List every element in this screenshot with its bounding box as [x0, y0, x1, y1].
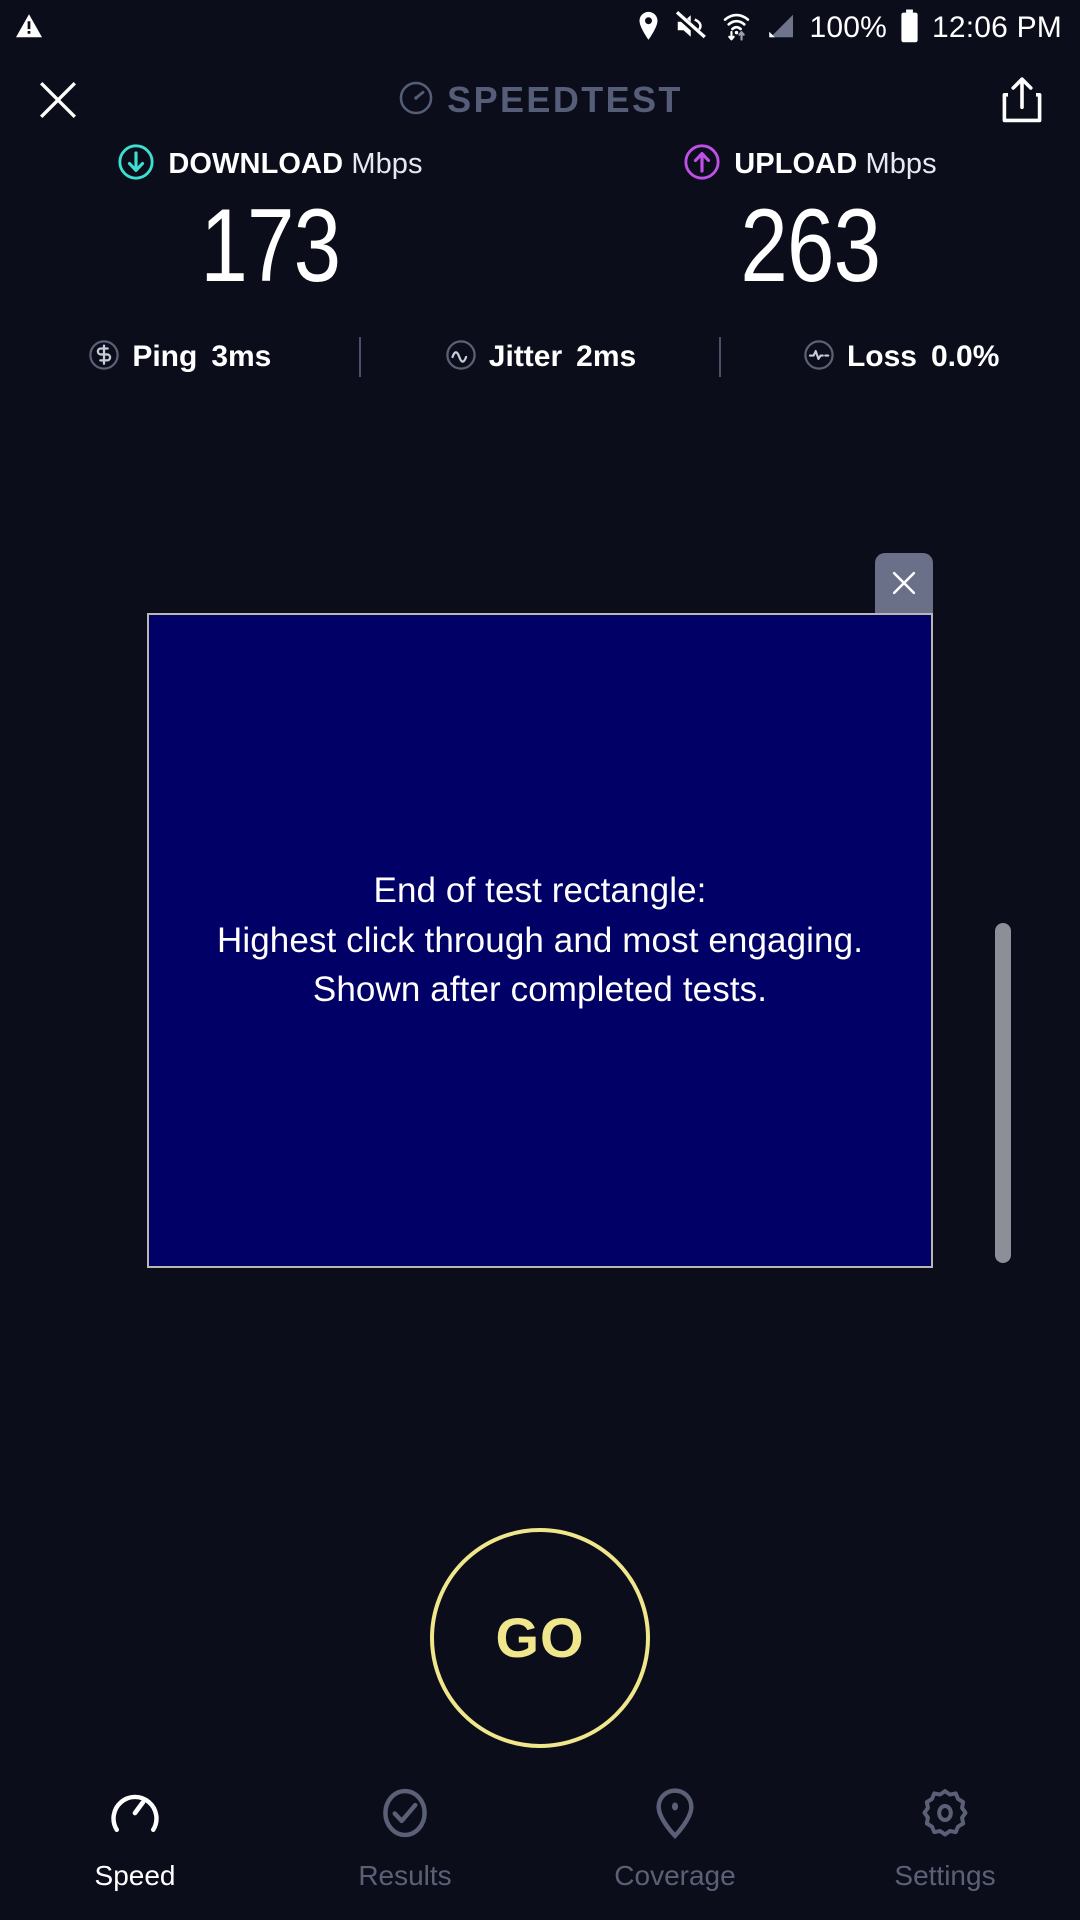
- jitter-stat: Jitter 2ms: [361, 338, 720, 377]
- battery-full-icon: [900, 9, 919, 48]
- loss-stat: Loss 0.0%: [721, 338, 1080, 377]
- gear-icon: [917, 1782, 973, 1844]
- nav-label-settings: Settings: [894, 1862, 995, 1890]
- upload-metric: UPLOAD Mbps 263: [540, 140, 1080, 301]
- download-label: DOWNLOAD Mbps: [168, 150, 422, 179]
- ping-label: Ping: [132, 342, 197, 372]
- scrollbar-thumb[interactable]: [995, 923, 1011, 1263]
- ping-icon: [87, 338, 121, 377]
- share-button[interactable]: [990, 68, 1054, 132]
- ad-close-button[interactable]: [875, 553, 933, 613]
- close-button[interactable]: [26, 68, 90, 132]
- go-button[interactable]: GO: [430, 1528, 650, 1748]
- nav-label-speed: Speed: [95, 1862, 176, 1890]
- close-icon: [888, 567, 920, 599]
- loss-value: 0.0%: [931, 342, 999, 372]
- battery-percent-label: 100%: [809, 13, 887, 43]
- status-bar-right: 100% 12:06 PM: [635, 9, 1062, 48]
- advertisement-banner[interactable]: End of test rectangle: Highest click thr…: [147, 613, 933, 1268]
- speed-metrics-row: DOWNLOAD Mbps 173 UP: [0, 140, 1080, 301]
- jitter-label: Jitter: [489, 342, 562, 372]
- close-icon: [34, 76, 82, 124]
- app-bar: SPEEDTEST: [0, 58, 1080, 142]
- download-value: 173: [200, 192, 340, 301]
- wifi-transfer-icon: [721, 10, 752, 47]
- app-title: SPEEDTEST: [447, 82, 683, 118]
- upload-label: UPLOAD Mbps: [734, 150, 937, 179]
- upload-header: UPLOAD Mbps: [683, 140, 937, 188]
- go-button-label: GO: [495, 1610, 584, 1666]
- upload-value: 263: [740, 192, 880, 301]
- download-header: DOWNLOAD Mbps: [117, 140, 422, 188]
- speedtest-app-screen: 100% 12:06 PM S: [0, 0, 1080, 1920]
- nav-label-coverage: Coverage: [614, 1862, 735, 1890]
- ad-line-1: End of test rectangle:: [217, 866, 863, 916]
- ad-text-block: End of test rectangle: Highest click thr…: [217, 866, 863, 1015]
- app-brand: SPEEDTEST: [0, 79, 1080, 122]
- nav-item-speed[interactable]: Speed: [0, 1752, 270, 1920]
- upload-arrow-icon: [683, 143, 721, 186]
- ad-line-3: Shown after completed tests.: [217, 965, 863, 1015]
- nav-item-coverage[interactable]: Coverage: [540, 1752, 810, 1920]
- nav-item-results[interactable]: Results: [270, 1752, 540, 1920]
- ping-stat: Ping 3ms: [0, 338, 359, 377]
- go-button-container: GO: [430, 1528, 650, 1748]
- loss-label: Loss: [847, 342, 917, 372]
- volume-mute-icon: [675, 11, 708, 46]
- jitter-value: 2ms: [576, 342, 636, 372]
- cellular-signal-icon: [765, 11, 796, 46]
- ad-line-2: Highest click through and most engaging.: [217, 916, 863, 966]
- warning-triangle-icon: [14, 11, 44, 46]
- download-arrow-icon: [117, 143, 155, 186]
- nav-item-settings[interactable]: Settings: [810, 1752, 1080, 1920]
- status-bar-left: [14, 11, 44, 46]
- loss-icon: [802, 338, 836, 377]
- speedometer-icon: [397, 79, 435, 122]
- advertisement-container: End of test rectangle: Highest click thr…: [147, 613, 933, 1268]
- check-circle-icon: [377, 1782, 433, 1844]
- download-metric: DOWNLOAD Mbps 173: [0, 140, 540, 301]
- speedometer-icon: [107, 1782, 163, 1844]
- test-results-panel: DOWNLOAD Mbps 173 UP: [0, 140, 1080, 389]
- connection-stats-row: Ping 3ms Jitter 2ms: [0, 325, 1080, 389]
- clock-label: 12:06 PM: [932, 13, 1062, 43]
- location-pin-icon: [647, 1782, 703, 1844]
- jitter-icon: [444, 338, 478, 377]
- share-icon: [1000, 76, 1044, 124]
- nav-label-results: Results: [358, 1862, 451, 1890]
- status-bar: 100% 12:06 PM: [0, 0, 1080, 56]
- bottom-navigation-bar: Speed Results Coverage: [0, 1752, 1080, 1920]
- ping-value: 3ms: [211, 342, 271, 372]
- location-pin-icon: [635, 10, 662, 47]
